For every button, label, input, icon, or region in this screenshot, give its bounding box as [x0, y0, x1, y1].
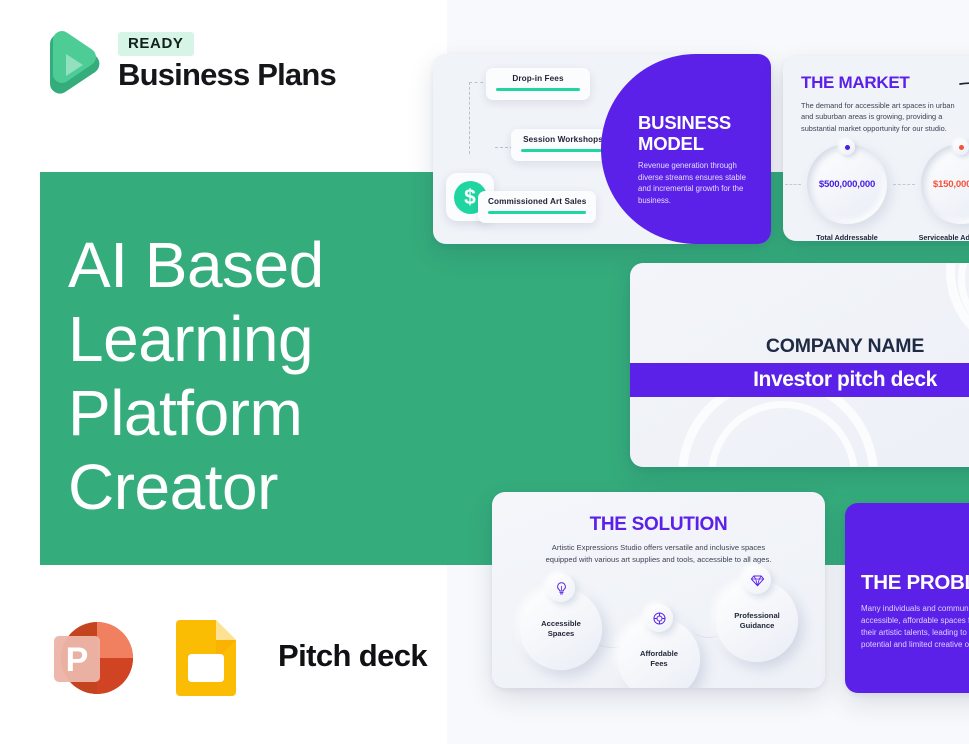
market-metrics: $500,000,000 Total Addressable Market (T… — [797, 144, 969, 241]
metric-caption-line-1: Serviceable Addressable — [919, 233, 969, 241]
revenue-stream-node[interactable]: Session Workshops — [511, 129, 615, 161]
brand-text: READY Business Plans — [118, 32, 336, 92]
revenue-stream-node[interactable]: Commissioned Art Sales — [478, 191, 596, 223]
market-title: THE MARKET — [801, 73, 909, 93]
metric-value: $500,000,000 — [819, 179, 875, 190]
svg-text:P: P — [66, 641, 89, 679]
node-label: Commissioned Art Sales — [488, 197, 586, 206]
solution-item[interactable]: Affordable Fees — [618, 618, 700, 688]
solution-description: Artistic Expressions Studio offers versa… — [542, 542, 775, 565]
curved-arrow-icon — [958, 78, 969, 134]
solution-item-label-line-2: Guidance — [740, 621, 775, 631]
solution-item-label-line-1: Affordable — [640, 649, 678, 659]
metric-dot-cap — [839, 139, 855, 155]
business-model-title-line-1: BUSINESS — [638, 112, 731, 133]
metric-value: $150,000,000 — [933, 179, 969, 190]
metric-ring: $500,000,000 — [807, 144, 887, 224]
business-model-title-line-2: MODEL — [638, 133, 704, 154]
solution-item-label-line-1: Professional — [734, 611, 780, 621]
metric-caption: Total Addressable Market (TAM) — [816, 233, 878, 241]
connector-line — [469, 82, 470, 154]
slide-the-problem[interactable]: THE PROBLEM Many individuals and communi… — [845, 503, 969, 693]
slide-the-market[interactable]: THE MARKET The demand for accessible art… — [783, 56, 969, 241]
solution-item-label-line-1: Accessible — [541, 619, 581, 629]
solution-title: THE SOLUTION — [492, 514, 825, 536]
hero-title-line-3: Platform — [68, 376, 468, 450]
hero-title-line-1: AI Based — [68, 228, 468, 302]
slide-the-solution[interactable]: THE SOLUTION Artistic Expressions Studio… — [492, 492, 825, 688]
hero-title: AI Based Learning Platform Creator — [68, 228, 468, 524]
metric-dot-cap — [953, 139, 969, 155]
metric-ring: $150,000,000 — [921, 144, 969, 224]
market-metric: $150,000,000 Serviceable Addressable Mar… — [911, 144, 969, 241]
brand-title: Business Plans — [118, 58, 336, 92]
solution-items: Accessible Spaces Affordable Fees — [520, 580, 798, 680]
market-metric: $500,000,000 Total Addressable Market (T… — [797, 144, 897, 241]
slide-cover[interactable]: COMPANY NAME Investor pitch deck — [630, 263, 969, 467]
ready-badge: READY — [118, 32, 194, 56]
business-model-title: BUSINESS MODEL — [638, 112, 731, 154]
metric-caption: Serviceable Addressable Market (SAM) — [919, 233, 969, 241]
solution-item[interactable]: Professional Guidance — [716, 580, 798, 662]
market-description: The demand for accessible art spaces in … — [801, 100, 964, 134]
lightbulb-icon — [547, 574, 575, 602]
node-underline — [488, 211, 586, 214]
metric-caption-line-1: Total Addressable — [816, 233, 878, 241]
hero-title-line-2: Learning — [68, 302, 468, 376]
node-underline — [521, 149, 605, 152]
google-slides-icon — [158, 608, 254, 704]
node-label: Session Workshops — [521, 135, 605, 144]
powerpoint-icon: P — [44, 608, 140, 704]
target-icon — [645, 604, 673, 632]
problem-description: Many individuals and communities lack ac… — [861, 603, 969, 651]
format-badges: P Pitch deck — [44, 608, 427, 704]
node-label: Drop-in Fees — [496, 74, 580, 83]
page-root: READY Business Plans AI Based Learning P… — [0, 0, 969, 744]
solution-item-label-line-2: Fees — [650, 659, 667, 669]
format-label: Pitch deck — [278, 638, 427, 674]
deck-title-band: Investor pitch deck — [630, 363, 969, 397]
company-name: COMPANY NAME — [630, 335, 969, 358]
node-underline — [496, 88, 580, 91]
revenue-stream-node[interactable]: Drop-in Fees — [486, 68, 590, 100]
solution-item[interactable]: Accessible Spaces — [520, 588, 602, 670]
slide-business-model[interactable]: $ Drop-in Fees Session Workshops Commiss… — [433, 54, 771, 244]
problem-title: THE PROBLEM — [861, 571, 969, 595]
play-triangle-logo-icon — [36, 26, 104, 98]
hero-title-line-4: Creator — [68, 450, 468, 524]
brand-header: READY Business Plans — [36, 26, 336, 98]
diamond-icon — [743, 566, 771, 594]
business-model-description: Revenue generation through diverse strea… — [638, 160, 756, 206]
deck-title: Investor pitch deck — [753, 368, 937, 392]
solution-item-label-line-2: Spaces — [548, 629, 575, 639]
